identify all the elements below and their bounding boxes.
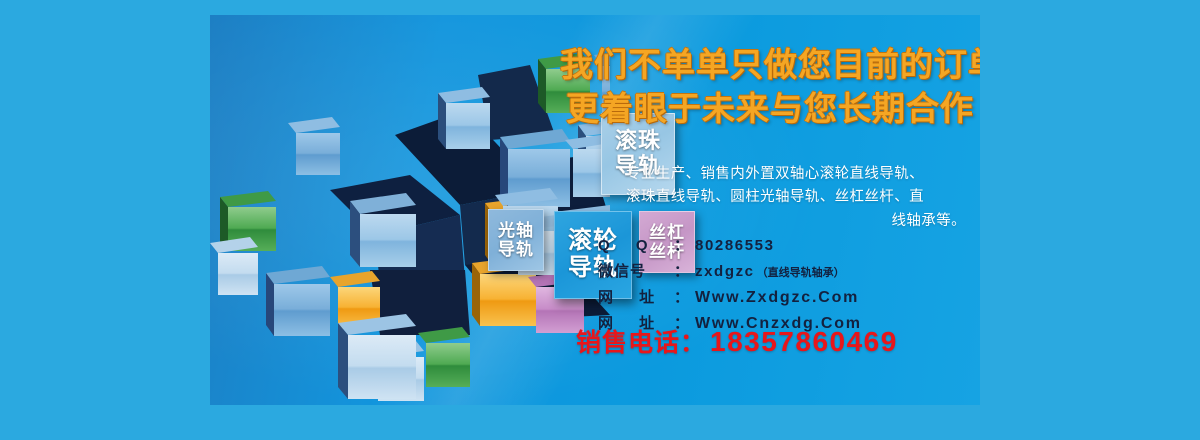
sales-phone-label: 销售电话： bbox=[576, 323, 706, 359]
product-label-line2: 导轨 bbox=[498, 240, 534, 259]
contact-row-wechat: 微信号 ： zxdgzc （直线导轨轴承） bbox=[598, 260, 978, 286]
description-line3: 线轴承等。 bbox=[580, 210, 970, 233]
description: 专业生产、销售内外置双轴心滚轮直线导轨、 滚珠直线导轨、圆柱光轴导轨、丝杠丝杆、… bbox=[580, 163, 970, 233]
contact-label-website1: 网 址 bbox=[598, 286, 674, 307]
text-column: 我们不单单只做您目前的订单 更着眼于未来与您长期合作 专业生产、销售内外置双轴心… bbox=[560, 15, 980, 405]
contact-value-wechat: zxdgzc bbox=[695, 263, 755, 280]
sales-phone: 销售电话： 18357860469 bbox=[576, 323, 898, 359]
sales-phone-number: 18357860469 bbox=[706, 326, 898, 358]
description-line1: 专业生产、销售内外置双轴心滚轮直线导轨、 bbox=[580, 163, 970, 186]
contact-separator: ： bbox=[674, 286, 695, 307]
content-panel: 滚珠 导轨 光轴 导轨 滚轮 导轨 丝杠 丝杆 我们不单单只做您目前的订单 更着… bbox=[210, 15, 980, 405]
contact-note-wechat: （直线导轨轴承） bbox=[755, 264, 845, 280]
cube-group bbox=[210, 48, 610, 401]
headline: 我们不单单只做您目前的订单 更着眼于未来与您长期合作 bbox=[560, 43, 980, 131]
contact-separator: ： bbox=[674, 234, 695, 255]
promo-banner: 滚珠 导轨 光轴 导轨 滚轮 导轨 丝杠 丝杆 我们不单单只做您目前的订单 更着… bbox=[0, 0, 1200, 440]
description-line2: 滚珠直线导轨、圆柱光轴导轨、丝杠丝杆、直 bbox=[580, 186, 970, 209]
contact-separator: ： bbox=[674, 260, 695, 281]
product-label-line1: 光轴 bbox=[498, 221, 534, 240]
contact-label-wechat: 微信号 bbox=[598, 260, 674, 281]
contact-value-website1[interactable]: Www.Zxdgzc.Com bbox=[695, 289, 859, 307]
contact-row-website1: 网 址 ： Www.Zxdgzc.Com bbox=[598, 286, 978, 312]
contact-value-qq: 80286553 bbox=[695, 237, 775, 254]
contact-label-qq: Q Q bbox=[598, 237, 674, 254]
product-label-guangzhou-daogui: 光轴 导轨 bbox=[488, 209, 544, 271]
contact-row-qq: Q Q ： 80286553 bbox=[598, 234, 978, 260]
headline-line2: 更着眼于未来与您长期合作 bbox=[560, 87, 980, 131]
exploding-cubes-graphic bbox=[210, 15, 610, 405]
headline-line1: 我们不单单只做您目前的订单 bbox=[560, 43, 980, 87]
